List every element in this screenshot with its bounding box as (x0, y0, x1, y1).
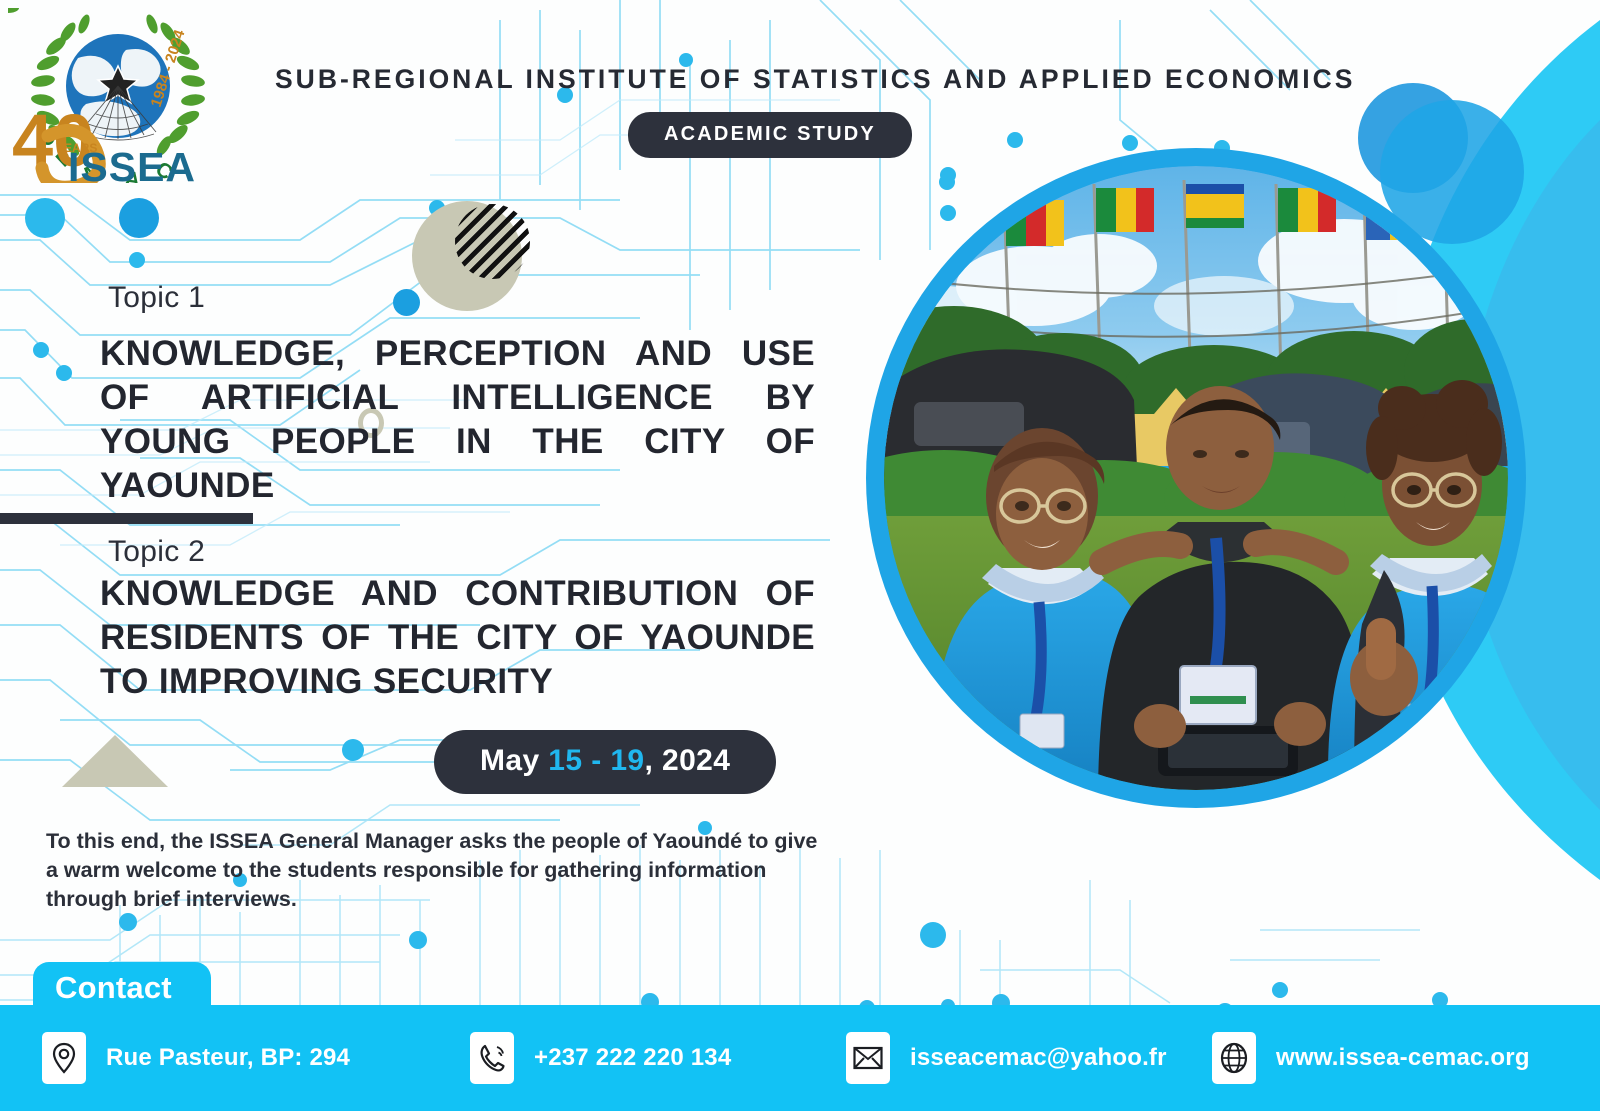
body-paragraph: To this end, the ISSEA General Manager a… (46, 827, 821, 914)
date-badge: May 15 - 19, 2024 (434, 730, 776, 794)
contact-heading: Contact (55, 970, 172, 1006)
topic-2-title: KNOWLEDGE AND CONTRIBUTION OF RESIDENTS … (100, 572, 815, 704)
blue-dot-decoration (393, 289, 420, 316)
contact-item-address[interactable]: Rue Pasteur, BP: 294 (42, 1032, 350, 1084)
issea-cemac-logo: C E M A C 40 YEARS ISSEA 1984 - 2024 (8, 8, 228, 183)
contact-item-phone[interactable]: +237 222 220 134 (470, 1032, 731, 1084)
poster-canvas: C E M A C 40 YEARS ISSEA 1984 - 2024 SUB… (0, 0, 1600, 1111)
contact-item-email[interactable]: isseacemac@yahoo.fr (846, 1032, 1167, 1084)
contact-phone-text: +237 222 220 134 (534, 1044, 731, 1072)
striped-circle-decoration (455, 204, 530, 279)
envelope-icon (846, 1032, 890, 1084)
academic-study-badge: ACADEMIC STUDY (628, 112, 912, 158)
date-day-start: 15 (548, 744, 582, 777)
globe-icon (1212, 1032, 1256, 1084)
location-pin-icon (42, 1032, 86, 1084)
deco-circle-small (1358, 83, 1468, 193)
institute-title: SUB-REGIONAL INSTITUTE OF STATISTICS AND… (275, 64, 1375, 95)
contact-item-website[interactable]: www.issea-cemac.org (1212, 1032, 1530, 1084)
date-month: May (480, 744, 548, 777)
contact-items-row: Rue Pasteur, BP: 294 +237 222 220 134 is… (0, 1017, 1600, 1099)
contact-heading-tab: Contact (33, 962, 211, 1018)
topic-2-label: Topic 2 (108, 535, 205, 569)
students-photo (884, 166, 1508, 790)
topic-1-title: KNOWLEDGE, PERCEPTION AND USE OF ARTIFIC… (100, 332, 815, 508)
svg-text:ISSEA: ISSEA (68, 144, 196, 183)
topic-1-label: Topic 1 (108, 281, 205, 315)
contact-website-text: www.issea-cemac.org (1276, 1044, 1530, 1072)
date-year: , 2024 (645, 744, 731, 777)
topic-divider-bar (0, 513, 253, 524)
date-separator: - (582, 744, 610, 777)
contact-email-text: isseacemac@yahoo.fr (910, 1044, 1167, 1072)
contact-address-text: Rue Pasteur, BP: 294 (106, 1044, 350, 1072)
date-day-end: 19 (610, 744, 644, 777)
beige-triangle-decoration (62, 735, 168, 787)
phone-icon (470, 1032, 514, 1084)
